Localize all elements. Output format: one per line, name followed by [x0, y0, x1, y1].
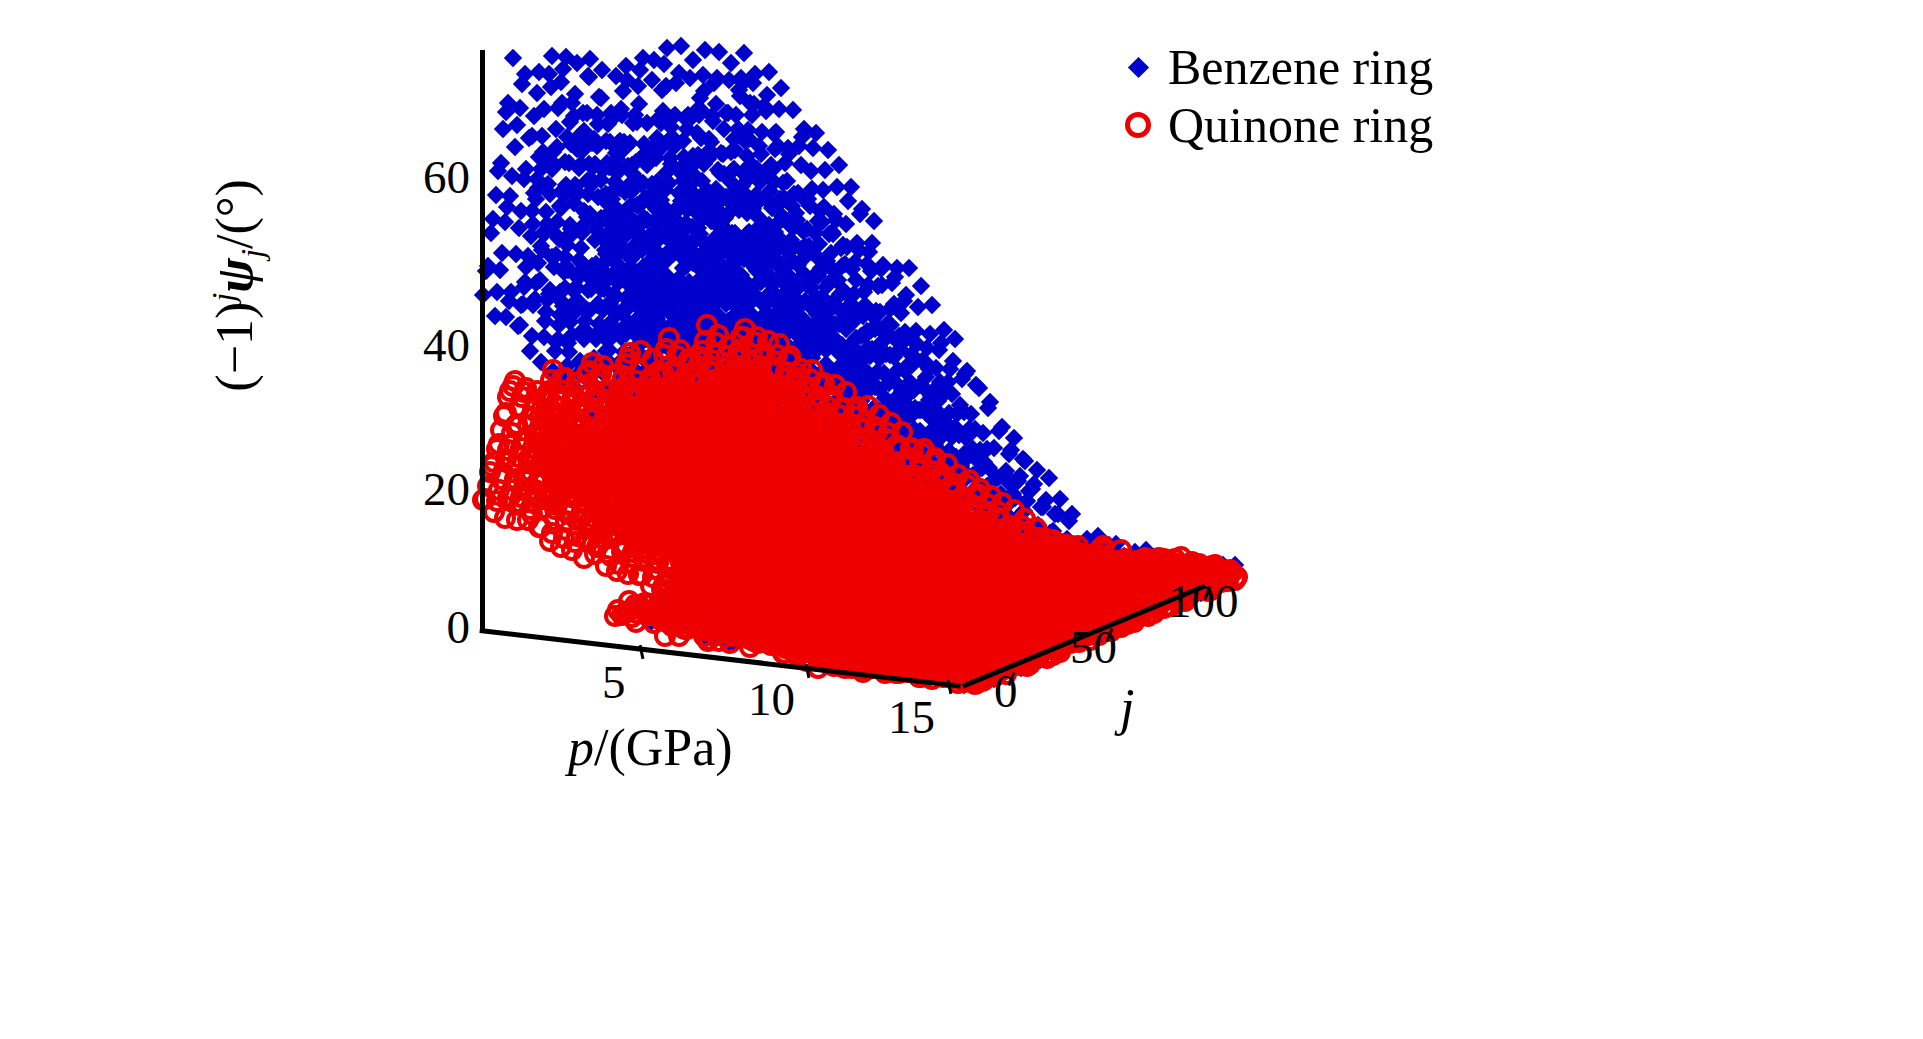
quinone-data-point: [852, 519, 874, 541]
benzene-data-point: [1042, 613, 1060, 631]
quinone-data-point: [1025, 625, 1047, 647]
quinone-data-point: [737, 534, 759, 556]
benzene-data-point: [685, 393, 703, 411]
quinone-data-point: [1016, 537, 1038, 559]
benzene-data-point: [880, 583, 898, 601]
quinone-data-point: [781, 589, 803, 611]
quinone-data-point: [757, 523, 779, 545]
benzene-data-point: [801, 413, 819, 431]
quinone-data-point: [897, 657, 919, 679]
quinone-data-point: [875, 601, 897, 623]
quinone-data-point: [817, 601, 839, 623]
quinone-data-point: [671, 379, 693, 401]
benzene-data-point: [695, 292, 713, 310]
benzene-data-point: [1150, 554, 1168, 572]
quinone-data-point: [632, 434, 654, 456]
quinone-data-point: [847, 520, 869, 542]
benzene-data-point: [945, 641, 963, 659]
quinone-data-point: [955, 566, 977, 588]
quinone-data-point: [974, 623, 996, 645]
benzene-data-point: [919, 641, 937, 659]
benzene-data-point: [810, 409, 828, 427]
quinone-data-point: [971, 571, 993, 593]
benzene-data-point: [756, 327, 774, 345]
quinone-data-point: [639, 407, 661, 429]
quinone-data-point: [951, 631, 973, 653]
quinone-data-point: [1030, 601, 1052, 623]
benzene-data-point: [886, 600, 904, 618]
benzene-data-point: [1116, 556, 1134, 574]
quinone-data-point: [921, 541, 943, 563]
quinone-data-point: [734, 598, 756, 620]
benzene-data-point: [743, 307, 761, 325]
benzene-data-point: [995, 562, 1013, 580]
quinone-data-point: [986, 536, 1008, 558]
quinone-data-point: [925, 619, 947, 641]
quinone-data-point: [728, 510, 750, 532]
quinone-data-point: [735, 586, 757, 608]
quinone-data-point: [970, 603, 992, 625]
quinone-data-point: [528, 418, 550, 440]
quinone-data-point: [921, 617, 943, 639]
quinone-data-point: [695, 452, 717, 474]
quinone-data-point: [992, 519, 1014, 541]
quinone-data-point: [728, 595, 750, 617]
quinone-data-point: [724, 480, 746, 502]
quinone-data-point: [774, 617, 796, 639]
quinone-data-point: [780, 586, 802, 608]
quinone-data-point: [816, 494, 838, 516]
benzene-data-point: [1053, 591, 1071, 609]
quinone-data-point: [814, 447, 836, 469]
quinone-data-point: [739, 494, 761, 516]
quinone-data-point: [1030, 626, 1052, 648]
quinone-data-point: [1121, 569, 1143, 591]
benzene-data-point: [714, 320, 732, 338]
quinone-data-point: [915, 656, 937, 678]
quinone-data-point: [1075, 571, 1097, 593]
benzene-data-point: [1023, 594, 1041, 612]
quinone-data-point: [571, 393, 593, 415]
benzene-data-point: [1092, 552, 1110, 570]
benzene-data-point: [998, 609, 1016, 627]
benzene-data-point: [1005, 621, 1023, 639]
quinone-data-point: [932, 570, 954, 592]
quinone-data-point: [754, 599, 776, 621]
quinone-data-point: [1053, 541, 1075, 563]
benzene-data-point: [991, 608, 1009, 626]
quinone-data-point: [967, 643, 989, 665]
quinone-data-point: [915, 519, 937, 541]
benzene-data-point: [1007, 598, 1025, 616]
quinone-data-point: [1101, 551, 1123, 573]
benzene-data-point: [630, 95, 648, 113]
quinone-data-point: [708, 462, 730, 484]
quinone-data-point: [524, 479, 546, 501]
quinone-data-point: [651, 541, 673, 563]
quinone-data-point: [1017, 619, 1039, 641]
quinone-data-point: [896, 596, 918, 618]
benzene-data-point: [1025, 474, 1043, 492]
quinone-data-point: [815, 586, 837, 608]
benzene-data-point: [879, 591, 897, 609]
quinone-data-point: [714, 587, 736, 609]
quinone-data-point: [818, 491, 840, 513]
benzene-data-point: [920, 590, 938, 608]
benzene-data-point: [724, 130, 742, 148]
quinone-data-point: [776, 454, 798, 476]
quinone-data-point: [951, 647, 973, 669]
quinone-data-point: [735, 562, 757, 584]
quinone-data-point: [877, 500, 899, 522]
benzene-data-point: [980, 616, 998, 634]
quinone-data-point: [781, 397, 803, 419]
benzene-data-point: [1071, 573, 1089, 591]
benzene-data-point: [955, 595, 973, 613]
quinone-data-point: [787, 463, 809, 485]
quinone-data-point: [969, 616, 991, 638]
benzene-data-point: [869, 633, 887, 651]
quinone-data-point: [597, 498, 619, 520]
quinone-data-point: [1036, 549, 1058, 571]
benzene-data-point: [583, 175, 601, 193]
quinone-data-point: [668, 500, 690, 522]
quinone-data-point: [562, 472, 584, 494]
benzene-data-point: [815, 488, 833, 506]
benzene-data-point: [893, 512, 911, 530]
quinone-data-point: [819, 388, 841, 410]
benzene-data-point: [913, 426, 931, 444]
quinone-data-point: [1116, 579, 1138, 601]
quinone-data-point: [940, 511, 962, 533]
quinone-data-point: [712, 585, 734, 607]
quinone-data-point: [754, 622, 776, 644]
quinone-data-point: [849, 601, 871, 623]
benzene-data-point: [953, 616, 971, 634]
quinone-data-point: [852, 460, 874, 482]
quinone-data-point: [999, 570, 1021, 592]
quinone-data-point: [1121, 553, 1143, 575]
benzene-data-point: [969, 510, 987, 528]
quinone-data-point: [776, 610, 798, 632]
benzene-data-point: [1188, 557, 1206, 575]
benzene-data-point: [826, 534, 844, 552]
benzene-data-point: [809, 267, 827, 285]
quinone-data-point: [957, 541, 979, 563]
benzene-data-point: [851, 454, 869, 472]
quinone-data-point: [661, 485, 683, 507]
benzene-data-point: [1035, 566, 1053, 584]
quinone-data-point: [937, 509, 959, 531]
quinone-data-point: [860, 539, 882, 561]
quinone-data-point: [846, 629, 868, 651]
benzene-data-point: [697, 285, 715, 303]
quinone-data-point: [998, 534, 1020, 556]
benzene-data-point: [694, 427, 712, 445]
benzene-data-point: [954, 566, 972, 584]
benzene-data-point: [1032, 572, 1050, 590]
benzene-data-point: [994, 588, 1012, 606]
quinone-data-point: [854, 462, 876, 484]
quinone-data-point: [594, 434, 616, 456]
benzene-data-point: [819, 564, 837, 582]
quinone-data-point: [827, 514, 849, 536]
quinone-data-point: [827, 527, 849, 549]
quinone-data-point: [624, 594, 646, 616]
quinone-data-point: [923, 575, 945, 597]
benzene-data-point: [632, 240, 650, 258]
quinone-data-point: [1026, 580, 1048, 602]
quinone-data-point: [1021, 606, 1043, 628]
quinone-data-point: [907, 629, 929, 651]
quinone-data-point: [1098, 556, 1120, 578]
benzene-data-point: [893, 424, 911, 442]
benzene-data-point: [769, 439, 787, 457]
benzene-data-point: [653, 336, 671, 354]
quinone-data-point: [962, 636, 984, 658]
quinone-data-point: [966, 547, 988, 569]
quinone-data-point: [882, 619, 904, 641]
quinone-data-point: [852, 571, 874, 593]
benzene-data-point: [552, 292, 570, 310]
quinone-data-point: [906, 520, 928, 542]
quinone-data-point: [963, 646, 985, 668]
quinone-data-point: [954, 577, 976, 599]
quinone-data-point: [761, 542, 783, 564]
quinone-data-point: [673, 591, 695, 613]
benzene-data-point: [948, 633, 966, 651]
quinone-data-point: [761, 605, 783, 627]
benzene-data-point: [690, 327, 708, 345]
quinone-data-point: [1058, 549, 1080, 571]
benzene-data-point: [1026, 546, 1044, 564]
quinone-data-point: [677, 479, 699, 501]
quinone-data-point: [1010, 571, 1032, 593]
quinone-data-point: [881, 601, 903, 623]
quinone-data-point: [755, 484, 777, 506]
quinone-data-point: [776, 419, 798, 441]
benzene-data-point: [986, 550, 1004, 568]
quinone-data-point: [1026, 583, 1048, 605]
quinone-data-point: [887, 606, 909, 628]
benzene-data-point: [1027, 555, 1045, 573]
quinone-data-point: [813, 588, 835, 610]
benzene-data-point: [1014, 528, 1032, 546]
quinone-data-point: [876, 603, 898, 625]
benzene-data-point: [997, 639, 1015, 657]
quinone-data-point: [837, 499, 859, 521]
benzene-data-point: [783, 100, 801, 118]
benzene-data-point: [962, 658, 980, 676]
quinone-data-point: [750, 525, 772, 547]
benzene-data-point: [916, 614, 934, 632]
benzene-data-point: [824, 596, 842, 614]
benzene-data-point: [768, 393, 786, 411]
quinone-data-point: [851, 539, 873, 561]
benzene-data-point: [734, 565, 752, 583]
benzene-data-point: [680, 420, 698, 438]
benzene-data-point: [1082, 591, 1100, 609]
quinone-data-point: [715, 618, 737, 640]
quinone-data-point: [694, 500, 716, 522]
quinone-data-point: [853, 636, 875, 658]
benzene-data-point: [1166, 556, 1184, 574]
quinone-data-point: [652, 583, 674, 605]
quinone-data-point: [715, 518, 737, 540]
benzene-data-point: [802, 372, 820, 390]
benzene-data-point: [1019, 633, 1037, 651]
quinone-data-point: [1069, 586, 1091, 608]
quinone-data-point: [749, 583, 771, 605]
benzene-data-point: [999, 596, 1017, 614]
quinone-data-point: [912, 525, 934, 547]
quinone-data-point: [969, 645, 991, 667]
quinone-data-point: [651, 405, 673, 427]
quinone-data-point: [582, 516, 604, 538]
benzene-data-point: [829, 452, 847, 470]
benzene-data-point: [899, 635, 917, 653]
quinone-data-point: [993, 544, 1015, 566]
quinone-data-point: [1034, 595, 1056, 617]
benzene-data-point: [652, 114, 670, 132]
quinone-data-point: [749, 555, 771, 577]
benzene-data-point: [690, 325, 708, 343]
quinone-data-point: [768, 598, 790, 620]
benzene-data-point: [1021, 635, 1039, 653]
benzene-data-point: [1000, 583, 1018, 601]
benzene-data-point: [959, 650, 977, 668]
benzene-data-point: [1003, 524, 1021, 542]
quinone-data-point: [967, 556, 989, 578]
quinone-data-point: [702, 395, 724, 417]
benzene-data-point: [565, 107, 583, 125]
quinone-data-point: [588, 533, 610, 555]
benzene-data-point: [605, 303, 623, 321]
benzene-data-point: [887, 644, 905, 662]
quinone-data-point: [802, 530, 824, 552]
quinone-data-point: [883, 537, 905, 559]
quinone-data-point: [749, 445, 771, 467]
quinone-data-point: [859, 482, 881, 504]
quinone-data-point: [954, 634, 976, 656]
quinone-data-point: [838, 488, 860, 510]
quinone-data-point: [589, 447, 611, 469]
quinone-data-point: [717, 419, 739, 441]
benzene-data-point: [947, 559, 965, 577]
benzene-data-point: [967, 584, 985, 602]
benzene-data-point: [954, 658, 972, 676]
quinone-data-point: [809, 515, 831, 537]
benzene-data-point: [886, 532, 904, 550]
quinone-data-point: [824, 587, 846, 609]
benzene-data-point: [883, 428, 901, 446]
quinone-data-point: [924, 541, 946, 563]
benzene-data-point: [793, 335, 811, 353]
benzene-data-point: [1021, 562, 1039, 580]
benzene-data-point: [652, 318, 670, 336]
benzene-data-point: [1131, 552, 1149, 570]
quinone-data-point: [1088, 595, 1110, 617]
quinone-data-point: [1035, 609, 1057, 631]
quinone-data-point: [680, 557, 702, 579]
benzene-data-point: [937, 642, 955, 660]
benzene-data-point: [1036, 615, 1054, 633]
benzene-data-point: [812, 288, 830, 306]
quinone-data-point: [1025, 562, 1047, 584]
depth-tick-label: 50: [1070, 620, 1117, 674]
benzene-data-point: [993, 417, 1011, 435]
benzene-data-point: [1109, 588, 1127, 606]
benzene-data-point: [961, 444, 979, 462]
quinone-data-point: [886, 592, 908, 614]
quinone-data-point: [882, 639, 904, 661]
quinone-data-point: [752, 448, 774, 470]
benzene-data-point: [894, 598, 912, 616]
benzene-data-point: [853, 585, 871, 603]
benzene-data-point: [711, 215, 729, 233]
benzene-data-point: [1134, 571, 1152, 589]
benzene-data-point: [866, 478, 884, 496]
quinone-data-point: [576, 374, 598, 396]
quinone-data-point: [964, 521, 986, 543]
quinone-data-point: [796, 628, 818, 650]
quinone-data-point: [786, 545, 808, 567]
benzene-data-point: [875, 643, 893, 661]
quinone-data-point: [753, 631, 775, 653]
quinone-data-point: [817, 537, 839, 559]
quinone-data-point: [730, 570, 752, 592]
benzene-data-point: [932, 478, 950, 496]
quinone-data-point: [1010, 533, 1032, 555]
quinone-data-point: [974, 620, 996, 642]
quinone-data-point: [808, 611, 830, 633]
benzene-data-point: [729, 469, 747, 487]
benzene-data-point: [927, 657, 945, 675]
benzene-data-point: [943, 606, 961, 624]
benzene-data-point: [900, 551, 918, 569]
quinone-data-point: [890, 598, 912, 620]
quinone-data-point: [755, 568, 777, 590]
benzene-data-point: [934, 605, 952, 623]
quinone-data-point: [762, 605, 784, 627]
benzene-data-point: [980, 568, 998, 586]
benzene-data-point: [781, 601, 799, 619]
quinone-data-point: [797, 609, 819, 631]
benzene-data-point: [956, 563, 974, 581]
quinone-data-point: [702, 462, 724, 484]
quinone-data-point: [833, 560, 855, 582]
benzene-data-point: [760, 572, 778, 590]
quinone-data-point: [803, 590, 825, 612]
quinone-data-point: [874, 513, 896, 535]
benzene-data-point: [760, 563, 778, 581]
quinone-data-point: [838, 539, 860, 561]
quinone-data-point: [846, 635, 868, 657]
benzene-data-point: [756, 576, 774, 594]
quinone-data-point: [1014, 629, 1036, 651]
benzene-data-point: [707, 270, 725, 288]
quinone-data-point: [869, 595, 891, 617]
quinone-data-point: [930, 570, 952, 592]
benzene-data-point: [918, 648, 936, 666]
benzene-data-point: [635, 135, 653, 153]
quinone-data-point: [878, 597, 900, 619]
quinone-data-point: [777, 587, 799, 609]
benzene-data-point: [752, 458, 770, 476]
benzene-data-point: [866, 624, 884, 642]
benzene-data-point: [539, 285, 557, 303]
quinone-data-point: [661, 460, 683, 482]
